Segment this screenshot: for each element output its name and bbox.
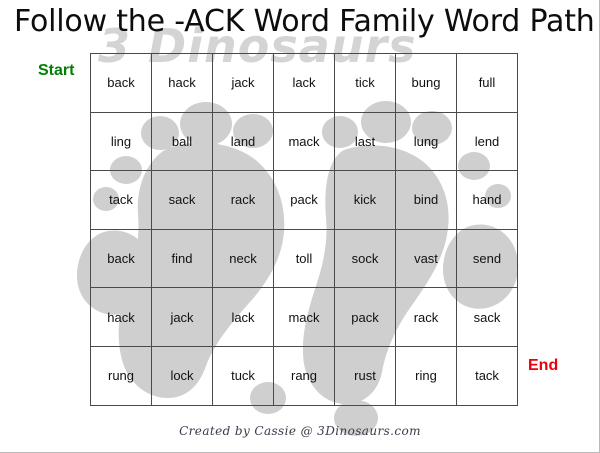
word-grid-row: tacksackrackpackkickbindhand — [91, 171, 518, 230]
word-cell[interactable]: mack — [274, 288, 335, 347]
word-cell[interactable]: lock — [152, 346, 213, 405]
word-cell[interactable]: hack — [91, 288, 152, 347]
word-grid-body: backhackjacklacktickbungfulllingballland… — [91, 54, 518, 406]
word-grid-row: hackjacklackmackpackracksack — [91, 288, 518, 347]
word-cell[interactable]: lung — [396, 112, 457, 171]
word-cell[interactable]: jack — [152, 288, 213, 347]
word-cell[interactable]: last — [335, 112, 396, 171]
word-cell[interactable]: rack — [396, 288, 457, 347]
word-cell[interactable]: rung — [91, 346, 152, 405]
word-cell[interactable]: find — [152, 229, 213, 288]
word-cell[interactable]: pack — [335, 288, 396, 347]
word-cell[interactable]: neck — [213, 229, 274, 288]
word-cell[interactable]: bung — [396, 54, 457, 113]
word-grid-row: backfindnecktollsockvastsend — [91, 229, 518, 288]
word-cell[interactable]: toll — [274, 229, 335, 288]
word-path-grid: backhackjacklacktickbungfulllingballland… — [90, 53, 518, 406]
word-cell[interactable]: kick — [335, 171, 396, 230]
word-cell[interactable]: hand — [457, 171, 518, 230]
word-cell[interactable]: bind — [396, 171, 457, 230]
footer-credit: Created by Cassie @ 3Dinosaurs.com — [0, 424, 600, 438]
word-cell[interactable]: rust — [335, 346, 396, 405]
word-cell[interactable]: tuck — [213, 346, 274, 405]
page-title: Follow the -ACK Word Family Word Path — [14, 4, 586, 40]
word-cell[interactable]: ling — [91, 112, 152, 171]
word-cell[interactable]: sack — [457, 288, 518, 347]
word-grid-row: backhackjacklacktickbungfull — [91, 54, 518, 113]
word-cell[interactable]: back — [91, 229, 152, 288]
word-cell[interactable]: lend — [457, 112, 518, 171]
word-path-grid-container: backhackjacklacktickbungfulllingballland… — [90, 53, 510, 399]
end-label: End — [528, 357, 558, 375]
word-cell[interactable]: sock — [335, 229, 396, 288]
word-cell[interactable]: tack — [457, 346, 518, 405]
word-cell[interactable]: back — [91, 54, 152, 113]
word-cell[interactable]: hack — [152, 54, 213, 113]
word-cell[interactable]: vast — [396, 229, 457, 288]
word-cell[interactable]: sack — [152, 171, 213, 230]
word-cell[interactable]: pack — [274, 171, 335, 230]
worksheet-page: 3 Dinosaurs — [0, 0, 600, 453]
word-cell[interactable]: rang — [274, 346, 335, 405]
word-cell[interactable]: tack — [91, 171, 152, 230]
word-cell[interactable]: land — [213, 112, 274, 171]
word-cell[interactable]: full — [457, 54, 518, 113]
word-cell[interactable]: lack — [274, 54, 335, 113]
word-grid-row: runglocktuckrangrustringtack — [91, 346, 518, 405]
word-cell[interactable]: lack — [213, 288, 274, 347]
start-label: Start — [38, 62, 74, 80]
word-cell[interactable]: tick — [335, 54, 396, 113]
word-grid-row: lingballlandmacklastlunglend — [91, 112, 518, 171]
word-cell[interactable]: send — [457, 229, 518, 288]
word-cell[interactable]: ring — [396, 346, 457, 405]
word-cell[interactable]: jack — [213, 54, 274, 113]
word-cell[interactable]: mack — [274, 112, 335, 171]
word-cell[interactable]: ball — [152, 112, 213, 171]
word-cell[interactable]: rack — [213, 171, 274, 230]
